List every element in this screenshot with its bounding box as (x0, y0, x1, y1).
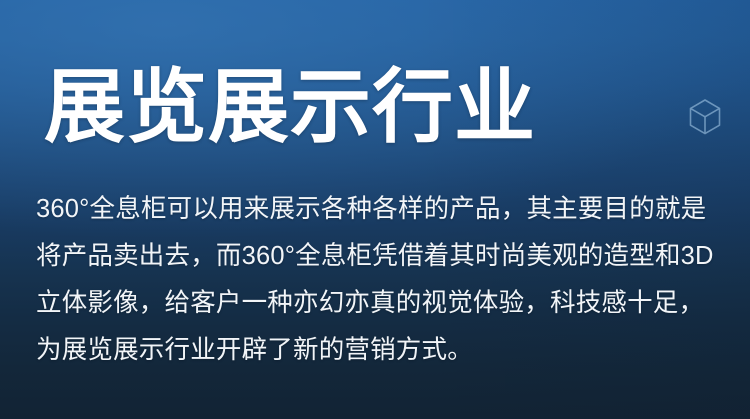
cube-icon (688, 98, 722, 136)
description-line: 立体影像，给客户一种亦幻亦真的视觉体验，科技感十足， (36, 280, 716, 327)
description-line: 360°全息柜可以用来展示各种各样的产品，其主要目的就是 (36, 186, 716, 233)
page-title: 展览展示行业 (44, 62, 536, 154)
promo-banner: 展览展示行业 360°全息柜可以用来展示各种各样的产品，其主要目的就是 将产品卖… (0, 0, 750, 419)
banner-description: 360°全息柜可以用来展示各种各样的产品，其主要目的就是 将产品卖出去，而360… (36, 186, 716, 374)
description-line: 将产品卖出去，而360°全息柜凭借着其时尚美观的造型和3D (36, 233, 716, 280)
description-line: 为展览展示行业开辟了新的营销方式。 (36, 327, 716, 374)
banner-content: 展览展示行业 360°全息柜可以用来展示各种各样的产品，其主要目的就是 将产品卖… (0, 0, 750, 419)
